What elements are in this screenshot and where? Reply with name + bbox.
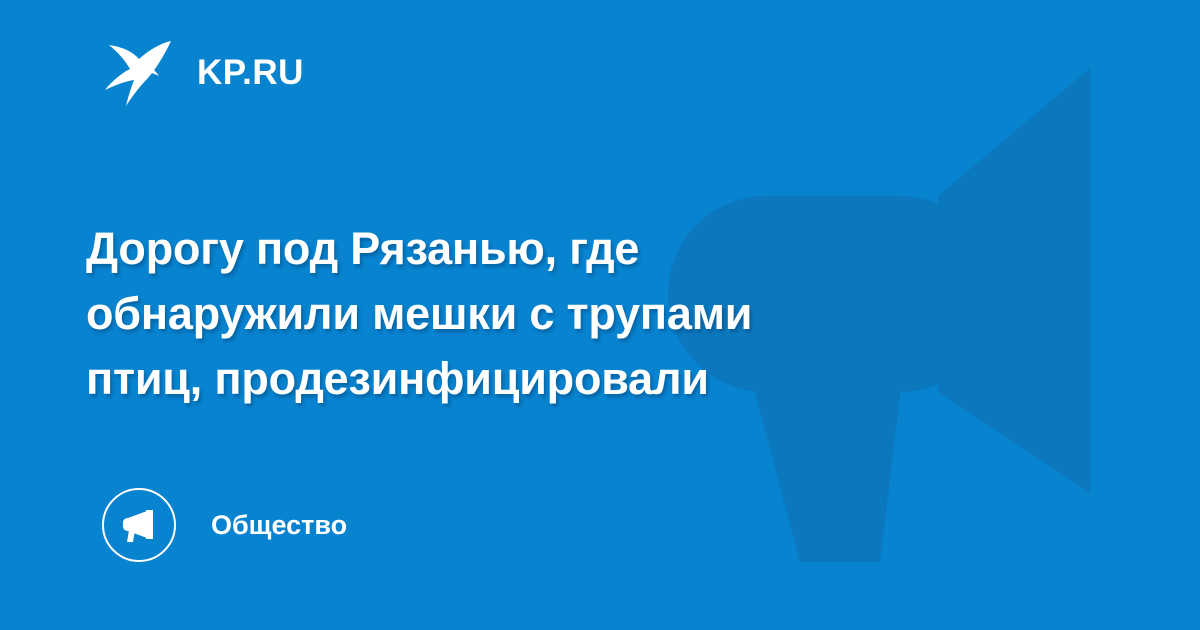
headline-line-2: обнаружили мешки с трупами xyxy=(86,281,986,346)
page-title: Дорогу под Рязанью, где обнаружили мешки… xyxy=(86,216,986,411)
headline-line-3: птиц, продезинфицировали xyxy=(86,346,986,411)
category-badge[interactable]: Общество xyxy=(102,487,347,563)
headline-line-1: Дорогу под Рязанью, где xyxy=(86,216,986,281)
megaphone-icon xyxy=(102,488,176,562)
brand-name: KP.RU xyxy=(197,55,304,90)
swallow-bird-icon xyxy=(103,38,175,106)
category-label: Общество xyxy=(211,512,347,539)
social-share-card: KP.RU Дорогу под Рязанью, где обнаружили… xyxy=(0,0,1200,630)
brand-header[interactable]: KP.RU xyxy=(103,36,304,108)
